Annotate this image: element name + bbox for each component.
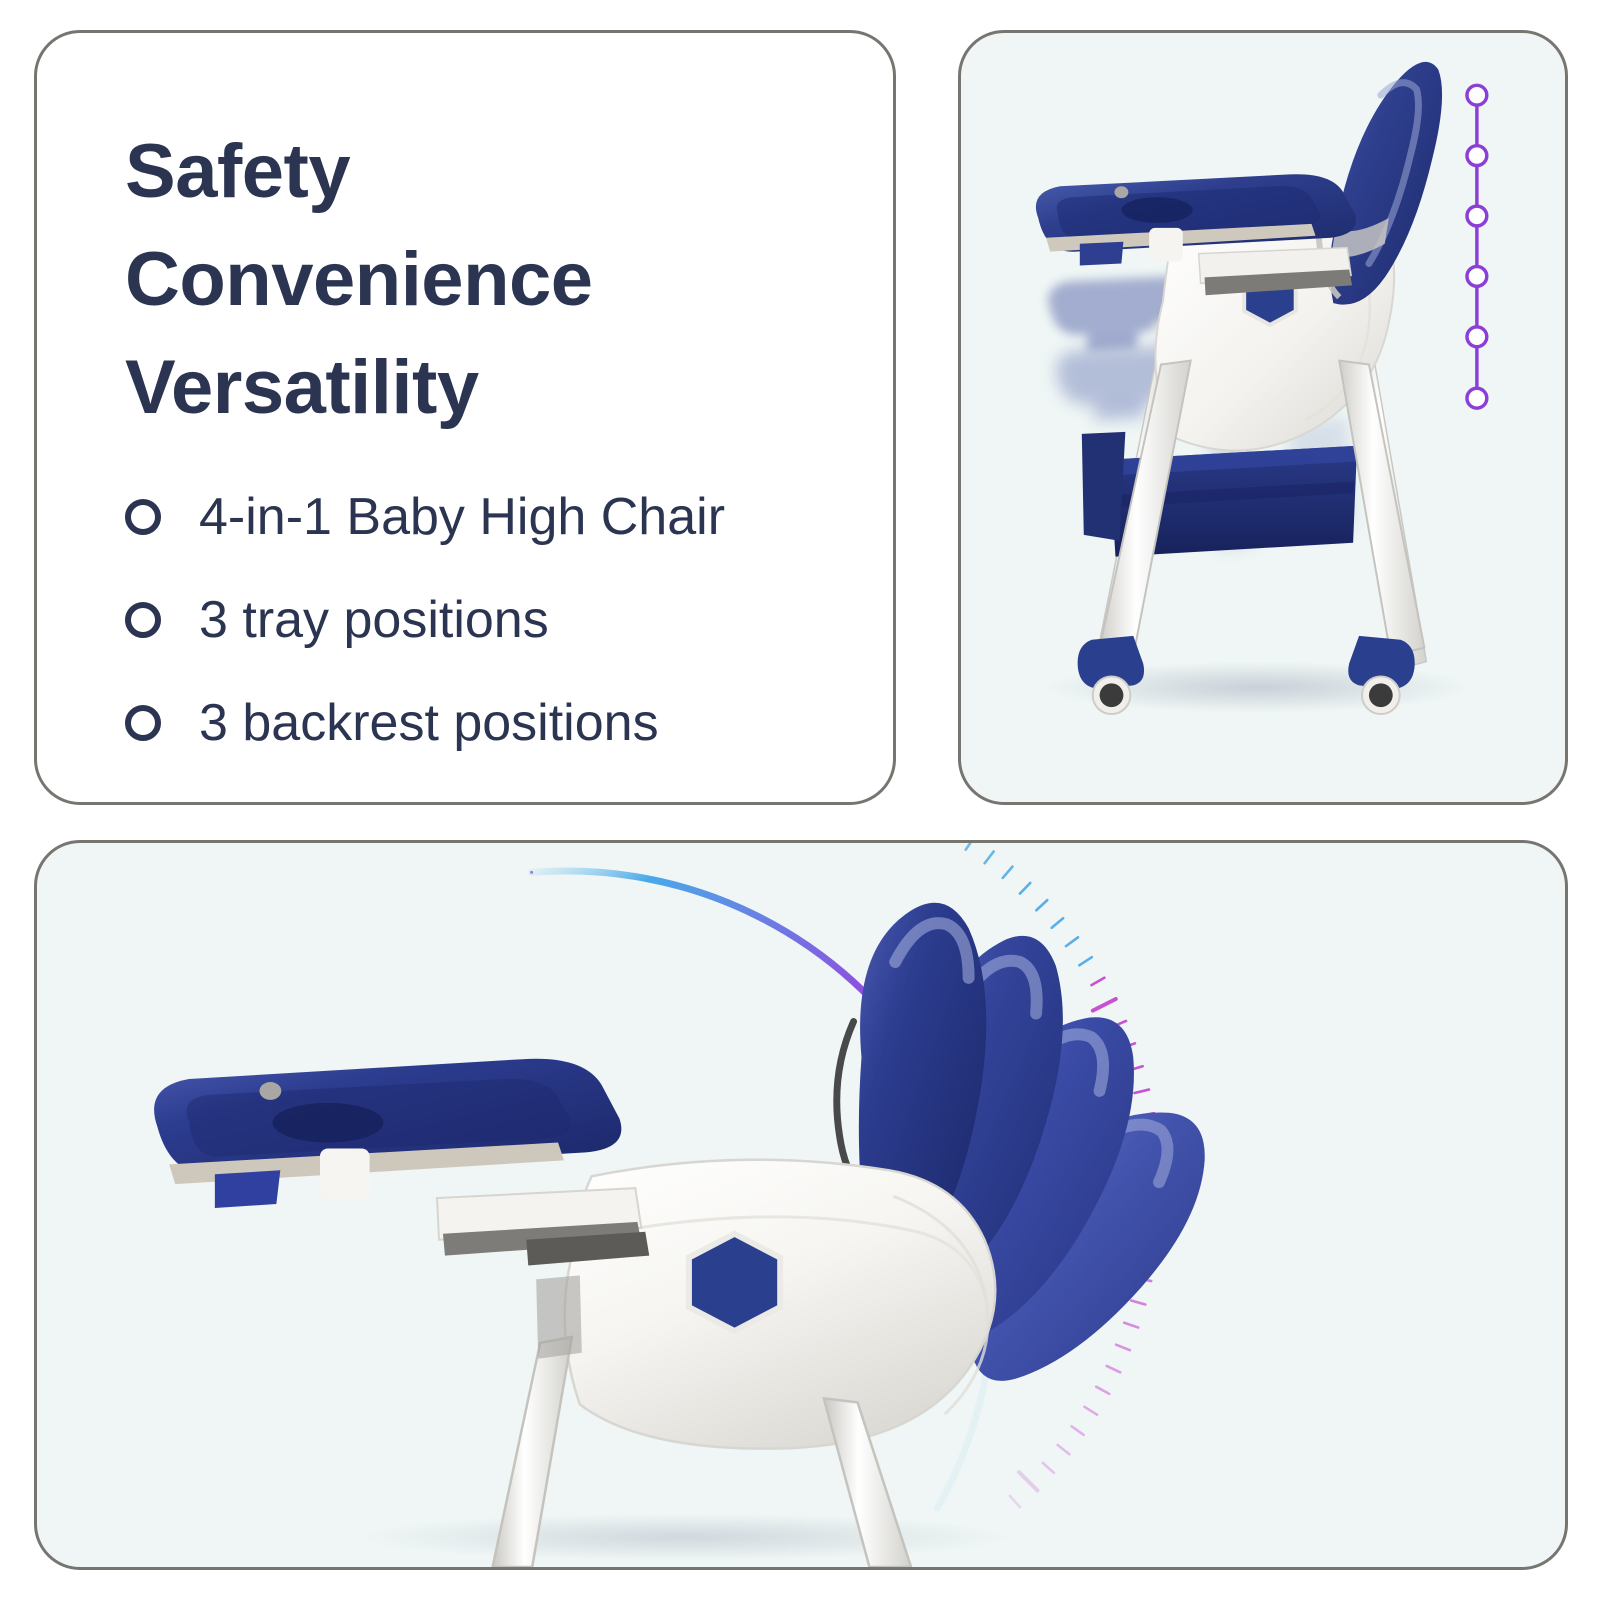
list-item: 3 backrest positions xyxy=(125,671,885,774)
height-indicator-scale xyxy=(1467,85,1487,408)
feature-label: 3 tray positions xyxy=(199,594,549,646)
cup-holder xyxy=(1121,197,1192,223)
headline-line-3: Versatility xyxy=(125,334,865,442)
tray-latch xyxy=(320,1148,370,1200)
features-panel: Safety Convenience Versatility 4-in-1 Ba… xyxy=(34,30,896,805)
feature-list: 4-in-1 Baby High Chair 3 tray positions … xyxy=(125,465,885,774)
tray-main xyxy=(154,1059,621,1208)
tray-arm xyxy=(437,1188,649,1265)
headline-line-2: Convenience xyxy=(125,226,865,334)
recline-panel xyxy=(34,840,1568,1570)
ring-bullet-icon xyxy=(125,499,161,535)
hex-badge-icon xyxy=(689,1234,780,1331)
feature-label: 4-in-1 Baby High Chair xyxy=(199,491,725,543)
cup-holder xyxy=(272,1103,383,1143)
list-item: 3 tray positions xyxy=(125,568,885,671)
list-item: 4-in-1 Baby High Chair xyxy=(125,465,885,568)
feature-label: 3 backrest positions xyxy=(199,697,659,749)
ring-bullet-icon xyxy=(125,602,161,638)
infographic-page: Safety Convenience Versatility 4-in-1 Ba… xyxy=(0,0,1600,1600)
tray-latch xyxy=(1149,228,1183,262)
high-chair-side-view-image xyxy=(961,33,1565,802)
ring-bullet-icon xyxy=(125,705,161,741)
height-adjust-panel xyxy=(958,30,1568,805)
page-title: Safety Convenience Versatility xyxy=(125,118,865,442)
headline-line-1: Safety xyxy=(125,118,865,226)
high-chair-recline-image xyxy=(37,843,1565,1567)
